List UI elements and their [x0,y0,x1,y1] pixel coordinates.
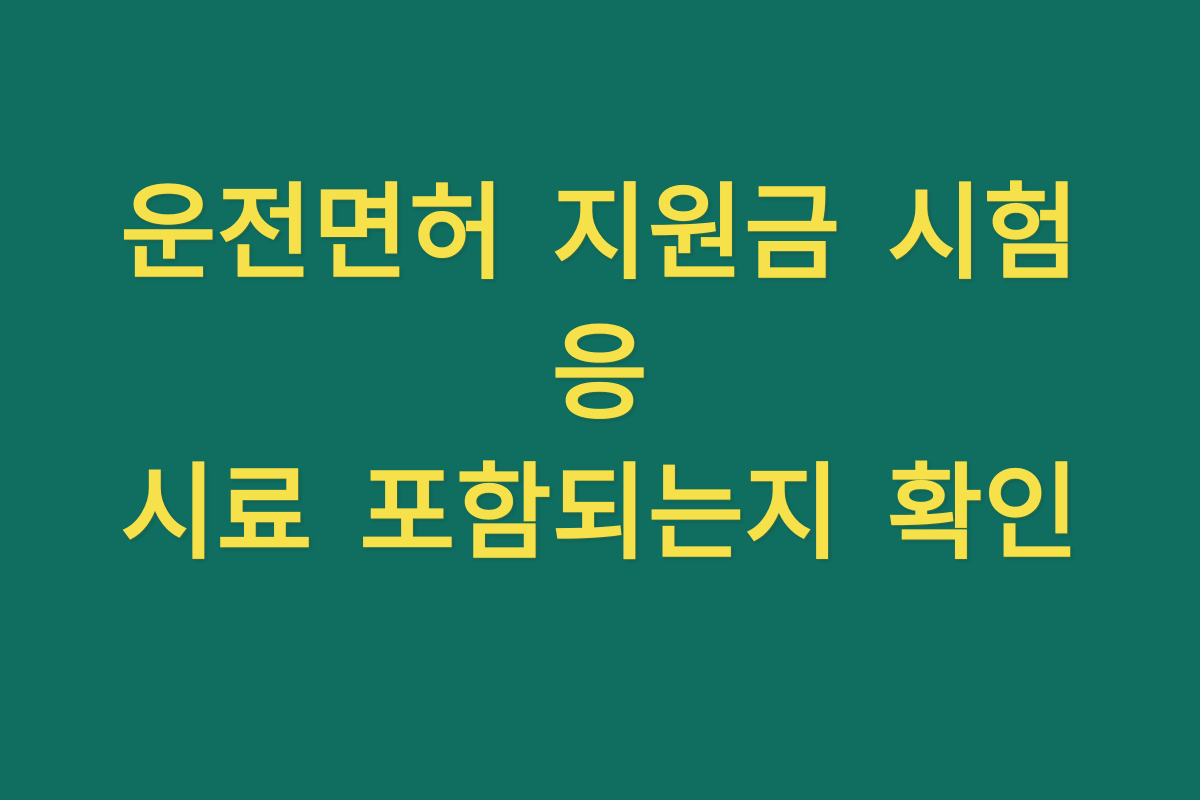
banner-canvas: 운전면허 지원금 시험 응 시료 포함되는지 확인 [0,0,1200,800]
banner-headline: 운전면허 지원금 시험 응 시료 포함되는지 확인 [75,163,1125,583]
headline-block: 운전면허 지원금 시험 응 시료 포함되는지 확인 [75,163,1125,583]
